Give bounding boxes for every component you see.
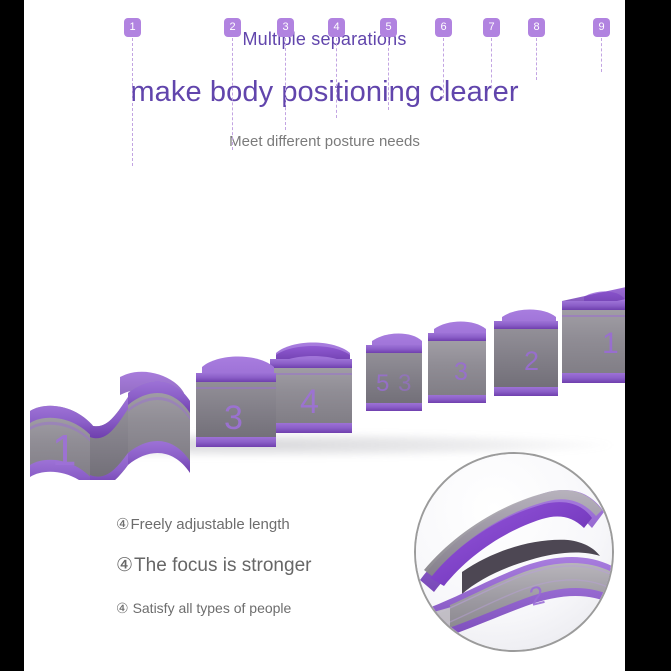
list-item-label: Freely adjustable length xyxy=(130,516,289,533)
svg-text:4: 4 xyxy=(300,383,319,421)
svg-text:2: 2 xyxy=(524,346,539,376)
list-item: ④ The focus is stronger xyxy=(116,554,446,577)
marker-leader-line xyxy=(443,38,444,98)
marker-badge: 3 xyxy=(277,18,294,37)
image-canvas: Multiple separations make body positioni… xyxy=(24,0,625,671)
svg-text:1: 1 xyxy=(52,426,76,475)
marker-badge: 4 xyxy=(328,18,345,37)
svg-text:1: 1 xyxy=(602,327,619,360)
marker-leader-line xyxy=(601,38,602,72)
product-band-image: 1 2 3 xyxy=(24,225,625,480)
marker-leader-line xyxy=(491,38,492,88)
marker-badge: 2 xyxy=(224,18,241,37)
svg-text:3: 3 xyxy=(398,370,411,397)
svg-text:3: 3 xyxy=(454,358,468,386)
list-item: ④ Satisfy all types of people xyxy=(116,600,446,617)
feature-bullet-list: ④ Freely adjustable length ④ The focus i… xyxy=(116,515,446,617)
marker-badge: 6 xyxy=(435,18,452,37)
marker-badge: 8 xyxy=(528,18,545,37)
marker-badge: 5 xyxy=(380,18,397,37)
svg-text:5: 5 xyxy=(376,370,389,397)
list-item: ④ Freely adjustable length xyxy=(116,515,446,533)
marker-leader-line xyxy=(132,38,133,166)
marker-leader-line xyxy=(232,38,233,150)
marker-badge: 1 xyxy=(124,18,141,37)
headline-text: make body positioning clearer xyxy=(24,76,625,109)
bullet-marker-icon: ④ xyxy=(116,515,129,533)
marker-badge: 7 xyxy=(483,18,500,37)
marker-leader-line xyxy=(388,38,389,110)
letterbox-left xyxy=(0,0,24,671)
product-feature-image: Multiple separations make body positioni… xyxy=(0,0,671,671)
marker-leader-line xyxy=(336,38,337,118)
marker-badge: 9 xyxy=(593,18,610,37)
detail-closeup-inset: 2 xyxy=(414,452,614,652)
bullet-marker-icon: ④ xyxy=(116,600,129,617)
marker-leader-line xyxy=(285,38,286,130)
list-item-label: Satisfy all types of people xyxy=(133,600,292,616)
letterbox-right xyxy=(625,0,671,671)
subhead-text: Meet different posture needs xyxy=(24,133,625,150)
list-item-label: The focus is stronger xyxy=(134,555,311,577)
marker-leader-line xyxy=(536,38,537,80)
bullet-marker-icon: ④ xyxy=(116,554,133,577)
svg-text:3: 3 xyxy=(224,399,243,437)
